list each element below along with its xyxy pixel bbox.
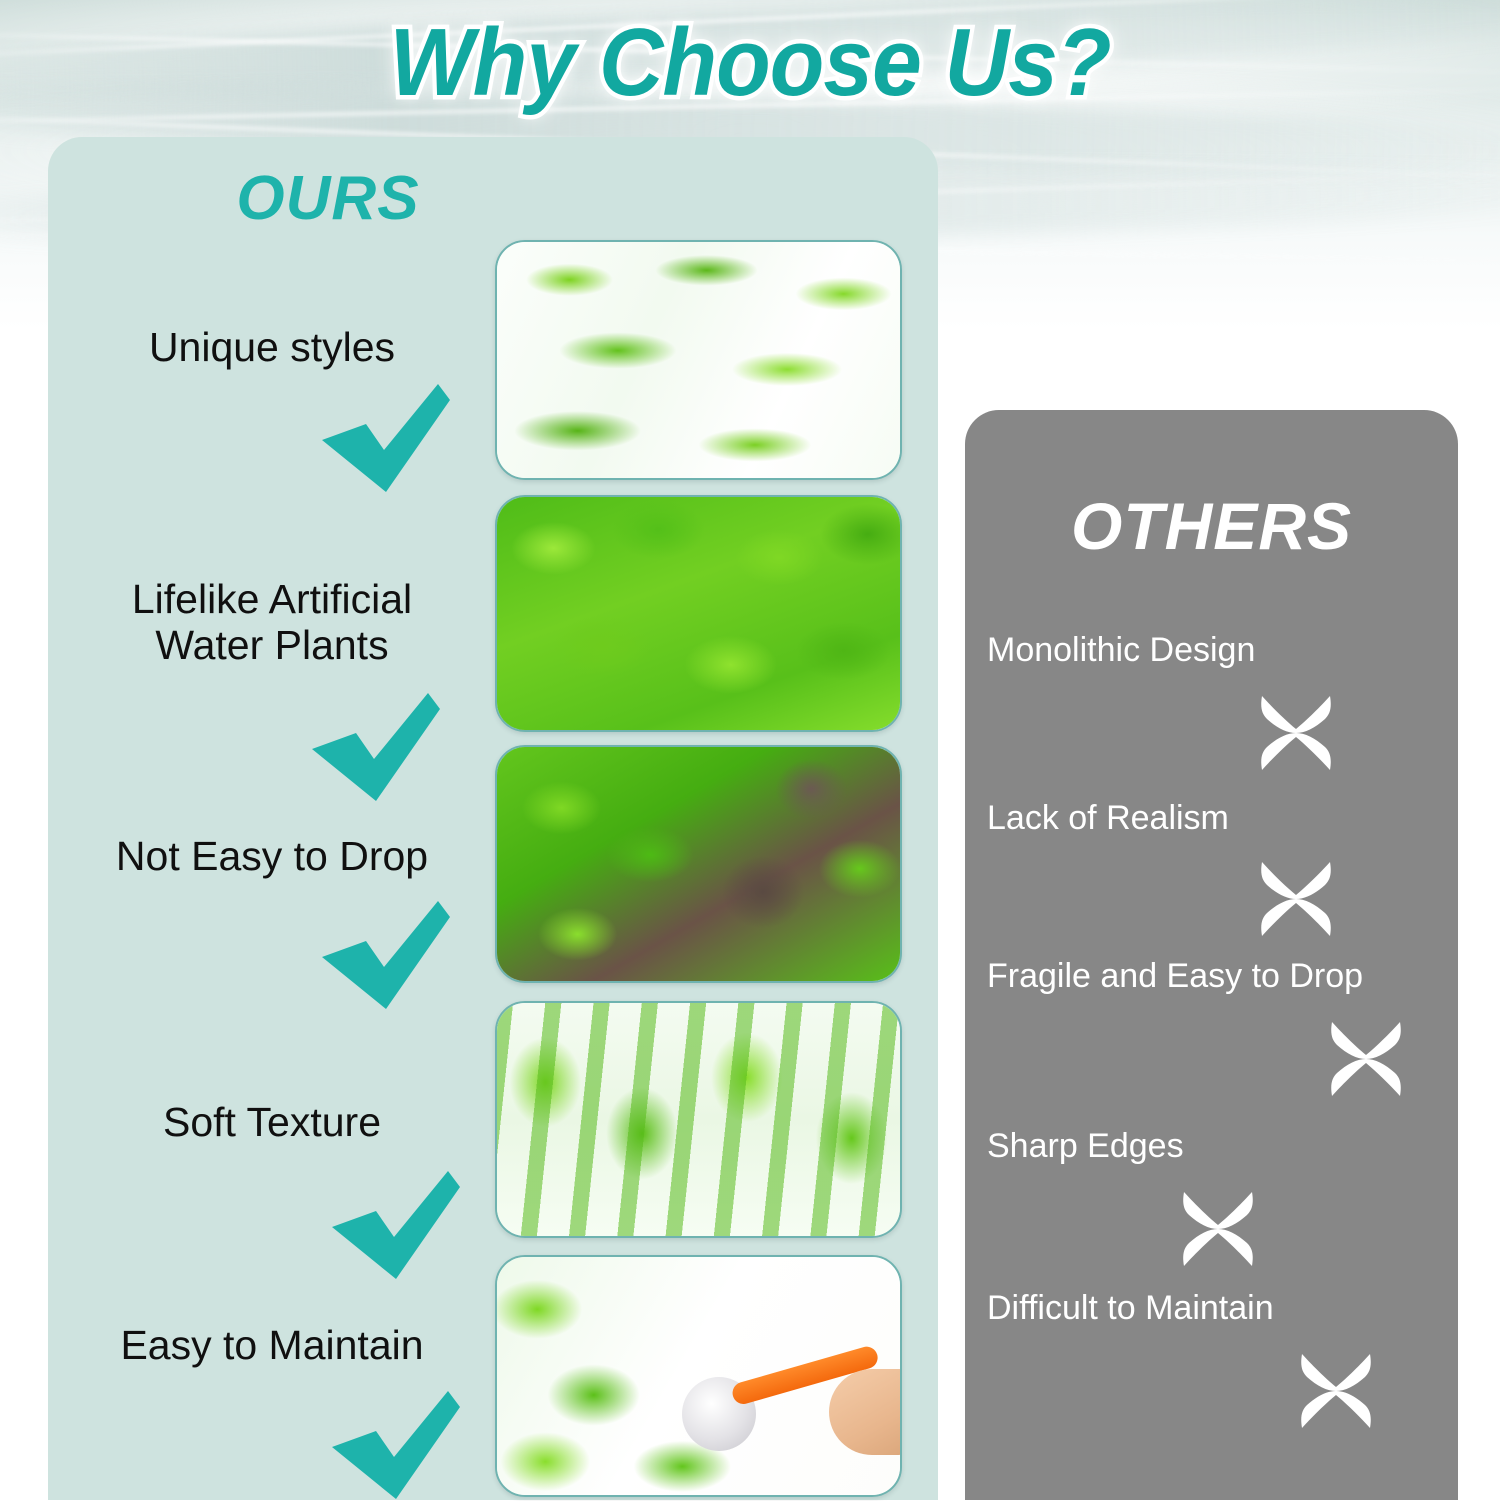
others-drawback-label-2: Lack of Realism — [987, 800, 1229, 837]
check-mark-icon — [314, 899, 454, 1011]
cross-mark-icon — [1177, 1188, 1259, 1270]
others-drawback-label-5: Difficult to Maintain — [987, 1290, 1274, 1327]
others-drawback-label-1: Monolithic Design — [987, 632, 1255, 669]
cross-mark-icon — [1255, 692, 1337, 774]
ours-feature-label-1: Unique styles — [62, 325, 482, 371]
cross-mark-icon — [1255, 858, 1337, 940]
others-heading: OTHERS — [965, 488, 1458, 564]
cross-mark-icon — [1295, 1350, 1377, 1432]
others-drawback-label-4: Sharp Edges — [987, 1128, 1184, 1165]
ours-heading: OURS — [48, 163, 608, 234]
others-drawback-label-3: Fragile and Easy to Drop — [987, 958, 1363, 995]
check-mark-icon — [314, 382, 454, 494]
check-mark-icon — [324, 1389, 464, 1501]
ours-feature-label-5: Easy to Maintain — [62, 1323, 482, 1369]
ours-photo-1 — [495, 240, 902, 480]
ours-photo-2 — [495, 495, 902, 732]
ours-feature-label-2-line2: Water Plants — [155, 622, 388, 668]
ours-photo-5 — [495, 1255, 902, 1497]
ours-feature-label-2: Lifelike Artificial Water Plants — [62, 577, 482, 669]
check-mark-icon — [324, 1169, 464, 1281]
ours-feature-label-4: Soft Texture — [62, 1100, 482, 1146]
ours-photo-3 — [495, 745, 902, 983]
check-mark-icon — [304, 691, 444, 803]
others-panel: OTHERS Monolithic Design Lack of Realism… — [965, 410, 1458, 1500]
ours-feature-label-3: Not Easy to Drop — [62, 834, 482, 880]
ours-photo-4 — [495, 1001, 902, 1238]
cross-mark-icon — [1325, 1018, 1407, 1100]
ours-feature-label-2-line1: Lifelike Artificial — [132, 576, 412, 622]
page-title: Why Choose Us? — [53, 8, 1448, 118]
ours-panel: OURS Unique styles Lifelike Artificial W… — [48, 137, 938, 1500]
